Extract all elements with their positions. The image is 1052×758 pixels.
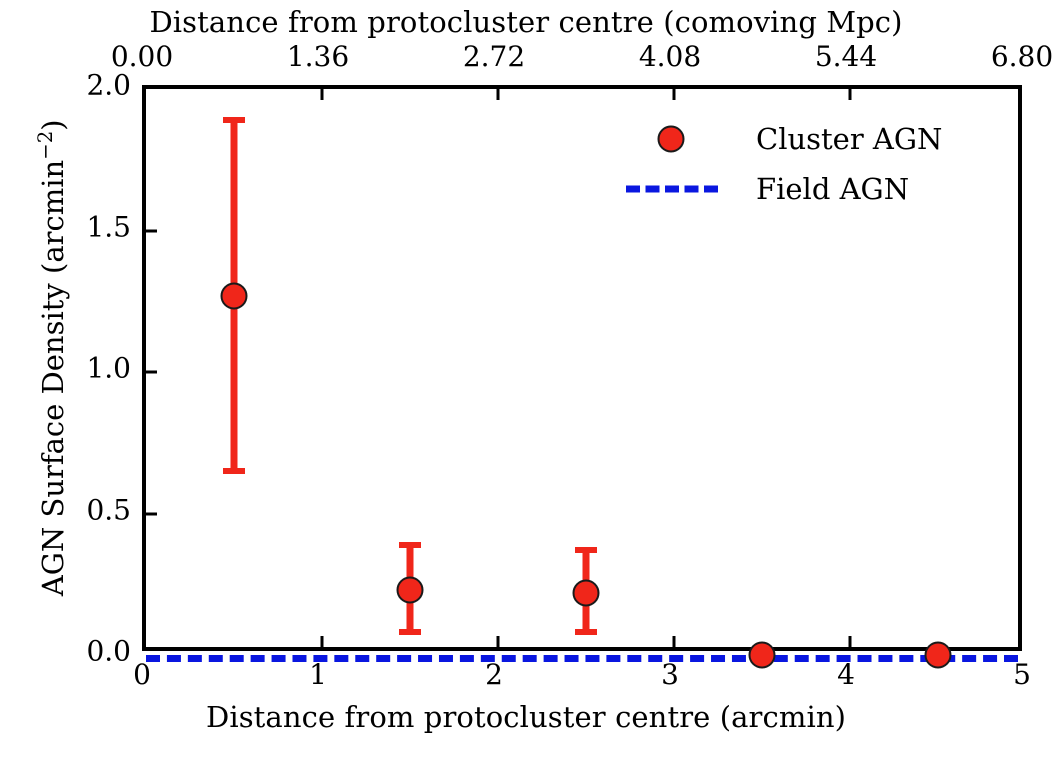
data-point-marker[interactable] [573, 579, 600, 606]
x-axis-title: Distance from protocluster centre (arcmi… [0, 700, 1052, 734]
secondary-x-tick-label: 5.44 [815, 40, 877, 73]
error-bar-cap [399, 542, 421, 548]
y-tick-label: 1.0 [86, 352, 131, 385]
x-tick-label: 5 [1013, 658, 1031, 691]
x-axis-tick [497, 636, 500, 647]
legend-item-label: Cluster AGN [756, 122, 942, 156]
plot-area: Cluster AGN Field AGN [142, 85, 1022, 651]
y-axis-tick [146, 512, 157, 515]
figure: Distance from protocluster centre (comov… [0, 0, 1052, 758]
y-axis-tick [146, 371, 157, 374]
secondary-x-axis-title: Distance from protocluster centre (comov… [0, 5, 1052, 39]
x-tick-label: 2 [485, 658, 503, 691]
secondary-x-axis-tick [497, 89, 500, 100]
x-tick-label: 4 [837, 658, 855, 691]
secondary-x-tick-label: 4.08 [639, 40, 701, 73]
x-tick-label: 1 [309, 658, 327, 691]
error-bar-cap [575, 629, 597, 635]
secondary-x-axis-tick [673, 89, 676, 100]
legend-item-label: Field AGN [756, 172, 909, 206]
x-axis-tick [321, 636, 324, 647]
legend: Cluster AGN Field AGN [616, 114, 1006, 214]
data-point-marker[interactable] [749, 642, 776, 669]
x-axis-tick [849, 636, 852, 647]
secondary-x-tick-label: 0.00 [111, 40, 173, 73]
data-point-marker[interactable] [925, 642, 952, 669]
x-axis-tick [673, 636, 676, 647]
y-axis-tick [146, 229, 157, 232]
legend-item-cluster-agn[interactable]: Cluster AGN [616, 114, 1006, 164]
error-bar-cap [399, 629, 421, 635]
error-bar-cap [223, 117, 245, 123]
data-point-marker[interactable] [221, 282, 248, 309]
secondary-x-axis-tick [849, 89, 852, 100]
y-tick-label-group: 0.00.51.01.52.0 [0, 0, 131, 758]
plot-inner: Cluster AGN Field AGN [146, 89, 1018, 647]
y-tick-label: 1.5 [86, 210, 131, 243]
secondary-x-tick-label: 2.72 [463, 40, 525, 73]
filled-circle-marker-icon [658, 126, 685, 153]
field-agn-reference-line [146, 655, 1018, 662]
secondary-x-tick-label: 6.80 [991, 40, 1052, 73]
y-tick-label: 2.0 [86, 69, 131, 102]
dashed-line-marker-icon [626, 186, 718, 193]
secondary-x-axis-tick [321, 89, 324, 100]
data-point-marker[interactable] [397, 576, 424, 603]
legend-item-field-agn[interactable]: Field AGN [616, 164, 1006, 214]
x-tick-label: 0 [133, 658, 151, 691]
y-tick-label: 0.5 [86, 493, 131, 526]
y-tick-label: 0.0 [86, 635, 131, 668]
secondary-x-tick-label: 1.36 [287, 40, 349, 73]
error-bar-cap [223, 468, 245, 474]
error-bar-cap [575, 547, 597, 553]
x-tick-label: 3 [661, 658, 679, 691]
